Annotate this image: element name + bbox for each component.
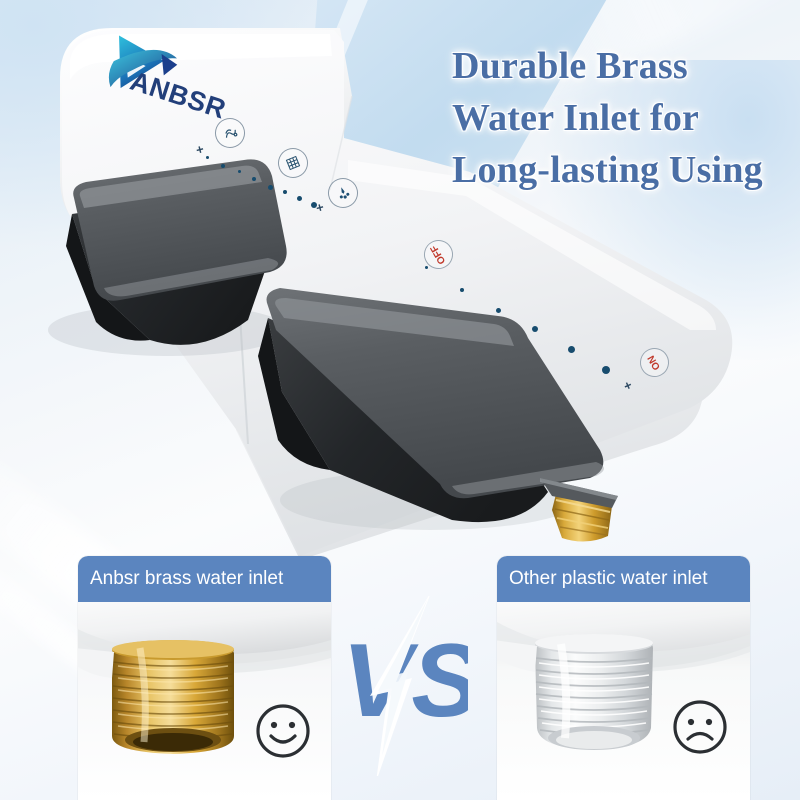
- product-marketing-image: ANBSR + +: [0, 0, 800, 800]
- headline-line-2: Water Inlet for: [452, 92, 800, 144]
- scale-dot: [221, 164, 225, 168]
- brass-card-label: Anbsr brass water inlet: [78, 556, 331, 602]
- smiley-face-icon: [254, 702, 312, 765]
- headline: Durable Brass Water Inlet for Long-lasti…: [452, 40, 800, 196]
- comparison-card-plastic: Other plastic water inlet: [497, 556, 750, 800]
- scale-dot: [311, 202, 317, 208]
- lower-plus: +: [621, 377, 634, 394]
- scale-dot: [532, 326, 538, 332]
- scale-dot: [425, 266, 428, 269]
- grid-nozzle-icon[interactable]: [273, 143, 312, 182]
- brass-inlet-closeup: [78, 602, 331, 800]
- scale-dot: [283, 190, 287, 194]
- frowny-face-icon: [671, 698, 729, 761]
- on-label: ON: [635, 343, 675, 383]
- headline-line-3: Long-lasting Using: [452, 144, 800, 196]
- brass-card-body: [78, 602, 331, 800]
- scale-dot: [496, 308, 501, 313]
- scale-dot: [297, 196, 302, 201]
- vs-graphic: VS: [336, 596, 468, 776]
- comparison-card-brass: Anbsr brass water inlet: [78, 556, 331, 800]
- spray-mode-icon[interactable]: [210, 113, 249, 152]
- vs-badge: VS: [336, 596, 468, 776]
- scale-dot: [268, 185, 273, 190]
- upper-plus-left: +: [194, 141, 205, 157]
- scale-dot: [238, 170, 241, 173]
- scale-dot: [602, 366, 610, 374]
- plastic-card-body: [497, 602, 750, 800]
- scale-dot: [252, 177, 256, 181]
- water-jet-icon[interactable]: [323, 173, 362, 212]
- scale-dot: [206, 156, 209, 159]
- headline-line-1: Durable Brass: [452, 40, 800, 92]
- plastic-card-label: Other plastic water inlet: [497, 556, 750, 602]
- scale-dot: [460, 288, 464, 292]
- scale-dot: [568, 346, 575, 353]
